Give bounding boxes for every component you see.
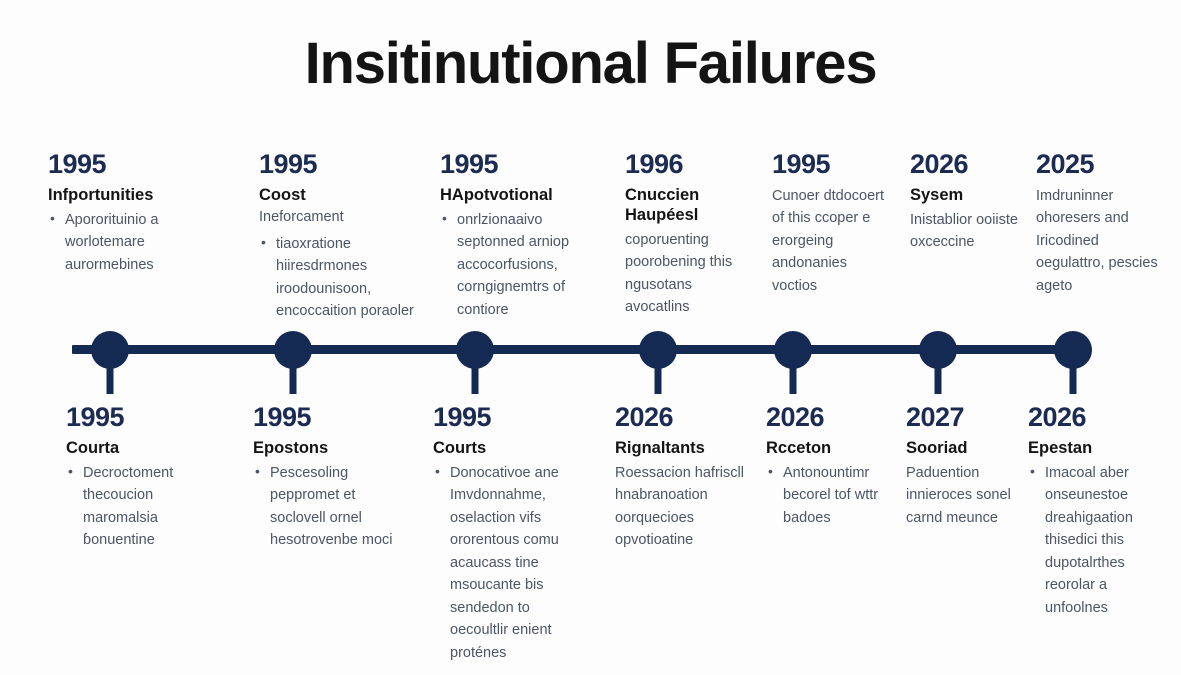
entry-body-text: coporuenting poorobening this ngusotans … — [625, 229, 755, 319]
timeline-entry-bottom-2[interactable]: 1995 Epostons Pescesoling peppromet et s… — [253, 403, 403, 552]
timeline-stem-7 — [1070, 362, 1077, 394]
entry-year: 2026 — [1028, 403, 1156, 433]
list-item: Apororituinio a worlotemare aurormebines — [65, 209, 228, 276]
list-item: Pescesoling peppromet et soclovell ornel… — [270, 462, 403, 552]
entry-heading: Courta — [66, 438, 216, 458]
entry-body-text: Inistablior ooiiste oxceccine — [910, 209, 1028, 254]
entry-heading: Sooriad — [906, 438, 1026, 458]
timeline-entry-top-7[interactable]: 2025 Imdruninner ohoresers and Iricodine… — [1036, 150, 1161, 297]
timeline-entry-top-4[interactable]: 1996 Cnuccien Haupéesl coporuenting poor… — [625, 150, 755, 319]
timeline-stem-1 — [107, 362, 114, 394]
entry-heading: HApotvotional — [440, 185, 602, 205]
timeline-entry-top-1[interactable]: 1995 Infportunities Apororituinio a worl… — [48, 150, 228, 276]
entry-heading: Coost — [259, 185, 414, 205]
timeline-entry-top-3[interactable]: 1995 HApotvotional onrlzionaaivo septonn… — [440, 150, 602, 321]
entry-year: 2025 — [1036, 150, 1161, 180]
list-item: Decroctoment thecoucion maromalsia ɓonue… — [83, 462, 216, 552]
timeline-stem-6 — [935, 362, 942, 394]
timeline-infographic: Insitinutional Failures 1995 Infportunit… — [0, 0, 1181, 675]
entry-year: 1996 — [625, 150, 755, 180]
page-title: Insitinutional Failures — [0, 34, 1181, 95]
entry-year: 2026 — [615, 403, 750, 433]
list-item: tiaoxratione hiiresdrmones iroodounisoon… — [276, 233, 414, 323]
entry-year: 1995 — [253, 403, 403, 433]
entry-year: 1995 — [440, 150, 602, 180]
entry-heading: Infportunities — [48, 185, 228, 205]
entry-bullet-list: Imacoal aber onseunestoe dreahigaation t… — [1028, 462, 1156, 619]
entry-bullet-list: onrlzionaaivo septonned arniop accocorfu… — [440, 209, 602, 321]
entry-bullet-list: Decroctoment thecoucion maromalsia ɓonue… — [66, 462, 216, 552]
entry-year: 1995 — [433, 403, 583, 433]
entry-body-text: Cunoer dtdocoert of this ccoper e erorge… — [772, 185, 892, 297]
entry-heading: Epestan — [1028, 438, 1156, 458]
entry-body-text: Paduention innieroces sonel carnd meunce — [906, 462, 1026, 529]
timeline-entry-bottom-5[interactable]: 2026 Rcceton Antonountimr becorel tof wt… — [766, 403, 891, 529]
list-item: Donocativoe ane Imvdonnahme, oselaction … — [450, 462, 583, 664]
entry-year: 2027 — [906, 403, 1026, 433]
timeline-stem-4 — [655, 362, 662, 394]
timeline-entry-bottom-4[interactable]: 2026 Rignaltants Roessacion hafriscll hn… — [615, 403, 750, 552]
entry-bullet-list: Donocativoe ane Imvdonnahme, oselaction … — [433, 462, 583, 664]
timeline-entry-bottom-7[interactable]: 2026 Epestan Imacoal aber onseunestoe dr… — [1028, 403, 1156, 619]
timeline-entry-bottom-6[interactable]: 2027 Sooriad Paduention innieroces sonel… — [906, 403, 1026, 529]
timeline-entry-top-6[interactable]: 2026 Sysem Inistablior ooiiste oxceccine — [910, 150, 1028, 254]
list-item: Imacoal aber onseunestoe dreahigaation t… — [1045, 462, 1156, 619]
timeline-entry-bottom-3[interactable]: 1995 Courts Donocativoe ane Imvdonnahme,… — [433, 403, 583, 664]
entry-year: 2026 — [766, 403, 891, 433]
entry-heading: Courts — [433, 438, 583, 458]
timeline-entry-top-2[interactable]: 1995 Coost Ineforcament tiaoxratione hii… — [259, 150, 414, 322]
entry-bullet-list: Antonountimr becorel tof wttr badoes — [766, 462, 891, 529]
entry-heading: Rcceton — [766, 438, 891, 458]
timeline-stem-2 — [290, 362, 297, 394]
entry-year: 1995 — [772, 150, 892, 180]
entry-year: 1995 — [48, 150, 228, 180]
entry-subheading: Ineforcament — [259, 207, 414, 229]
timeline-stem-3 — [472, 362, 479, 394]
entry-bullet-list: tiaoxratione hiiresdrmones iroodounisoon… — [259, 233, 414, 323]
entry-body-text: Roessacion hafriscll hnabranoation oorqu… — [615, 462, 750, 552]
entry-year: 1995 — [259, 150, 414, 180]
entry-heading: Rignaltants — [615, 438, 750, 458]
list-item: onrlzionaaivo septonned arniop accocorfu… — [457, 209, 602, 321]
entry-year: 2026 — [910, 150, 1028, 180]
entry-bullet-list: Apororituinio a worlotemare aurormebines — [48, 209, 228, 276]
timeline-stem-5 — [790, 362, 797, 394]
entry-year: 1995 — [66, 403, 216, 433]
entry-bullet-list: Pescesoling peppromet et soclovell ornel… — [253, 462, 403, 552]
timeline-entry-top-5[interactable]: 1995 Cunoer dtdocoert of this ccoper e e… — [772, 150, 892, 297]
entry-heading: Sysem — [910, 185, 1028, 205]
timeline-entry-bottom-1[interactable]: 1995 Courta Decroctoment thecoucion maro… — [66, 403, 216, 552]
list-item: Antonountimr becorel tof wttr badoes — [783, 462, 891, 529]
entry-heading: Epostons — [253, 438, 403, 458]
entry-body-text: Imdruninner ohoresers and Iricodined oeg… — [1036, 185, 1161, 297]
entry-heading: Cnuccien Haupéesl — [625, 185, 755, 225]
